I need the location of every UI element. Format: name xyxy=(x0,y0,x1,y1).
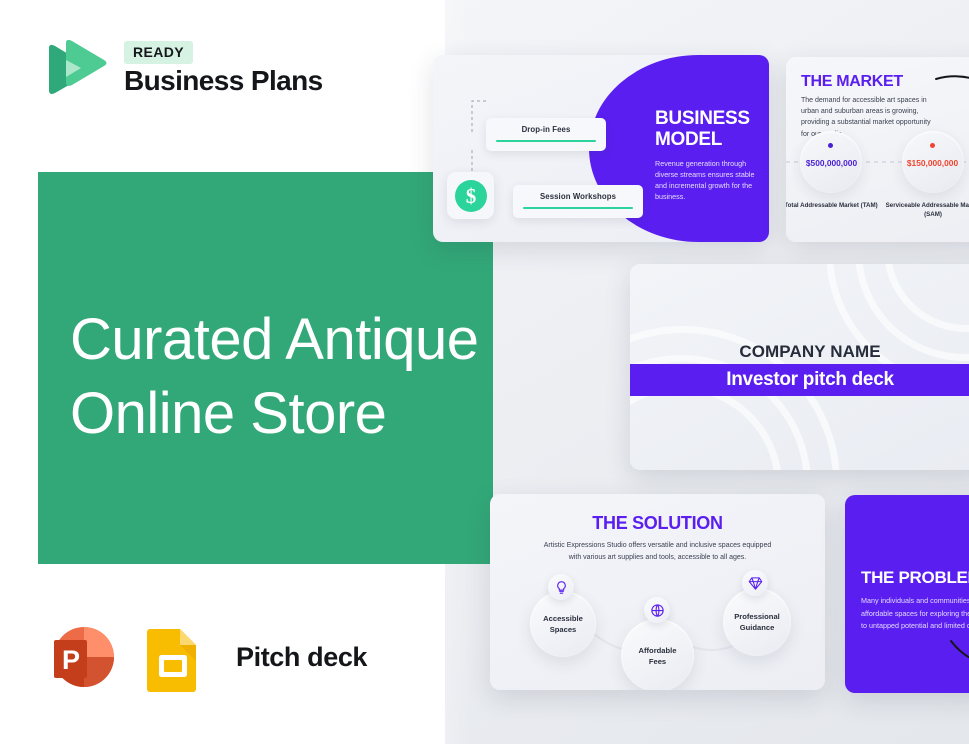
slide-the-market[interactable]: THE MARKET The demand for accessible art… xyxy=(786,57,969,242)
slide-investor-pitch-deck[interactable]: COMPANY NAME Investor pitch deck xyxy=(630,264,969,470)
lightbulb-icon xyxy=(548,574,574,600)
business-model-title-line-2: MODEL xyxy=(655,129,722,150)
business-model-item[interactable]: Drop-in Fees xyxy=(486,118,606,151)
pitch-company-name: COMPANY NAME xyxy=(630,342,969,362)
solution-pillar-label: AffordableFees xyxy=(639,645,677,667)
business-model-title-line-1: BUSINESS xyxy=(655,108,750,129)
business-model-item-bar xyxy=(496,140,596,142)
market-metric-dot xyxy=(930,143,935,148)
format-badges: P Pitch deck xyxy=(40,618,367,696)
business-model-item-label: Drop-in Fees xyxy=(496,125,596,134)
market-metric-value: $150,000,000 xyxy=(890,158,969,168)
business-model-item[interactable]: Session Workshops xyxy=(513,185,643,218)
solution-pillar[interactable]: ProfessionalGuidance xyxy=(723,588,791,656)
business-model-body: Revenue generation through diverse strea… xyxy=(655,158,765,203)
hero-title-line-2: Online Store xyxy=(70,377,490,451)
poster-canvas: READY Business Plans Curated Antique Onl… xyxy=(0,0,969,744)
solution-pillar-label: ProfessionalGuidance xyxy=(734,611,780,633)
slide-the-solution[interactable]: THE SOLUTION Artistic Expressions Studio… xyxy=(490,494,825,690)
problem-title: THE PROBLEM xyxy=(861,568,969,588)
market-metric-value: $500,000,000 xyxy=(789,158,874,168)
hero-title-line-1: Curated Antique xyxy=(70,307,478,372)
brand-wordmark: READY Business Plans xyxy=(124,41,323,95)
dollar-icon: $ xyxy=(455,180,487,212)
problem-body: Many individuals and communities lack ac… xyxy=(861,595,969,633)
business-model-item-bar xyxy=(523,207,633,209)
globe-icon xyxy=(644,597,670,623)
solution-pillar-label: AccessibleSpaces xyxy=(543,613,583,635)
market-metric-caption: Serviceable Addressable Market (SAM) xyxy=(885,202,969,220)
google-slides-icon[interactable] xyxy=(136,618,214,696)
svg-text:P: P xyxy=(62,645,80,675)
market-metric-dot xyxy=(828,143,833,148)
brand-name: Business Plans xyxy=(124,66,323,95)
powerpoint-icon[interactable]: P xyxy=(40,618,118,696)
format-label: Pitch deck xyxy=(236,642,367,673)
slide-the-problem[interactable]: THE PROBLEM Many individuals and communi… xyxy=(845,495,969,693)
market-metric-caption: Total Addressable Market (TAM) xyxy=(786,202,879,211)
problem-swoosh-icon xyxy=(949,637,969,677)
pitch-headline-band: Investor pitch deck xyxy=(630,364,969,396)
ready-badge: READY xyxy=(124,41,193,64)
solution-pillar[interactable]: AffordableFees xyxy=(621,619,694,690)
solution-pillar[interactable]: AccessibleSpaces xyxy=(530,591,596,657)
business-model-title: BUSINESS MODEL xyxy=(655,108,763,151)
diamond-icon xyxy=(742,570,768,596)
play-triangle-logo-icon xyxy=(38,32,110,104)
page-title: Curated Antique Online Store xyxy=(70,303,490,451)
brand-logo[interactable]: READY Business Plans xyxy=(38,32,323,104)
pitch-headline: Investor pitch deck xyxy=(630,364,969,396)
business-model-item-label: Session Workshops xyxy=(523,192,633,201)
slide-business-model[interactable]: $ Drop-in Fees Session Workshops Commiss… xyxy=(433,55,769,242)
